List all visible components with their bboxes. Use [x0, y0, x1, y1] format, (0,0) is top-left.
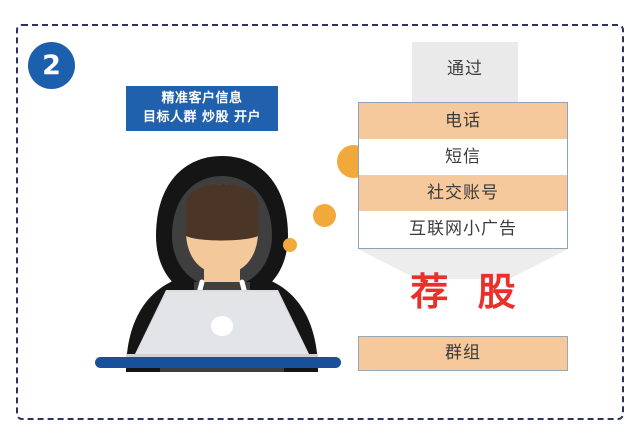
- channel-item-phone: 电话: [359, 103, 567, 139]
- orange-dot-small: [283, 238, 297, 252]
- channel-item-social-account: 社交账号: [359, 175, 567, 211]
- result-headline: 荐 股: [358, 272, 568, 314]
- caption-box: 精准客户信息 目标人群 炒股 开户: [126, 86, 278, 131]
- desk-bar: [95, 357, 341, 368]
- step-number-label: 2: [42, 52, 61, 79]
- channel-item-sms: 短信: [359, 139, 567, 175]
- caption-line-2: 目标人群 炒股 开户: [143, 109, 261, 127]
- hacker-illustration: [96, 140, 346, 372]
- orange-dot-medium: [313, 204, 336, 227]
- caption-line-1: 精准客户信息: [161, 90, 242, 108]
- channel-item-internet-ads: 互联网小广告: [359, 211, 567, 248]
- group-box: 群组: [358, 336, 568, 371]
- infographic-canvas: 2 精准客户信息 目标人群 炒股 开户 通过 电话: [0, 0, 640, 434]
- channel-list: 电话 短信 社交账号 互联网小广告: [358, 102, 568, 249]
- channel-band-label: 通过: [412, 54, 518, 79]
- step-number-badge: 2: [28, 42, 75, 89]
